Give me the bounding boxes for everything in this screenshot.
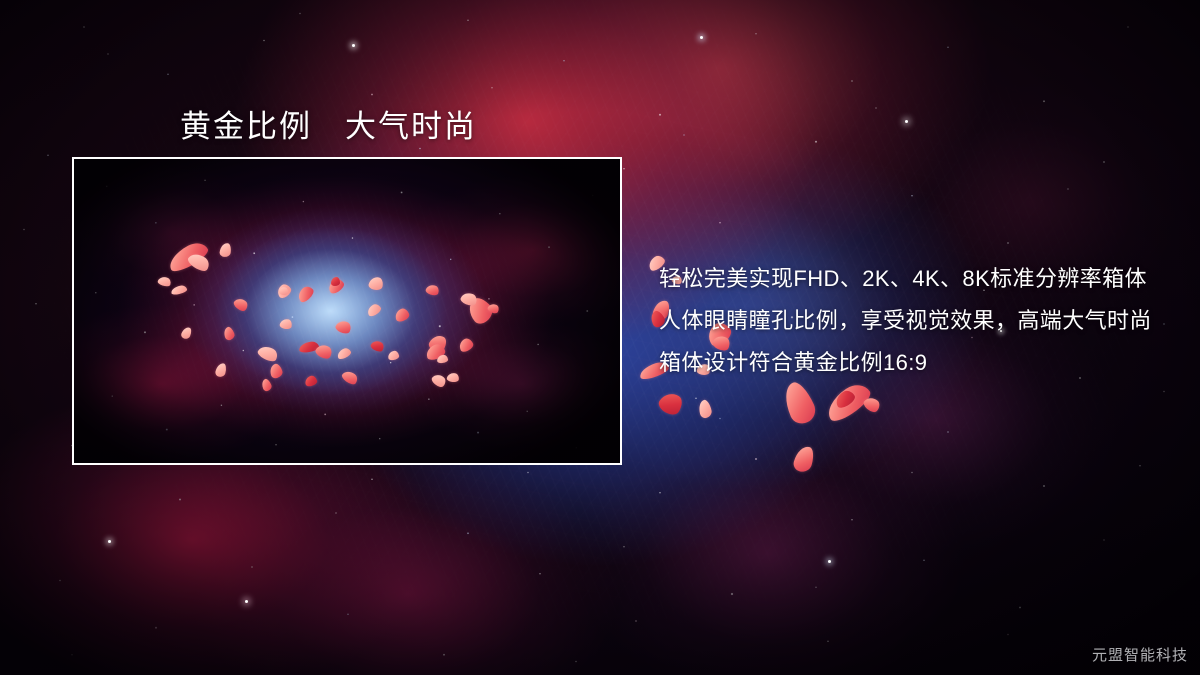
- presentation-slide: 黄金比例 大气时尚: [0, 0, 1200, 675]
- photo-content: [74, 159, 620, 463]
- petal: [821, 379, 874, 426]
- watermark: 元盟智能科技: [1092, 644, 1188, 665]
- bright-star: [245, 600, 248, 603]
- petal: [792, 444, 816, 474]
- petal: [862, 394, 883, 414]
- body-text-block: 轻松完美实现FHD、2K、4K、8K标准分辨率箱体 人体眼睛瞳孔比例，享受视觉效…: [659, 258, 1179, 384]
- bright-star: [700, 36, 703, 39]
- petal: [656, 389, 686, 419]
- photo-vignette: [74, 159, 620, 463]
- framed-photo: [72, 157, 622, 465]
- petal: [697, 399, 713, 419]
- body-text-line-3: 箱体设计符合黄金比例16:9: [659, 342, 1179, 384]
- body-text-line-2: 人体眼睛瞳孔比例，享受视觉效果，高端大气时尚: [659, 300, 1179, 342]
- petal: [779, 379, 820, 428]
- body-text-line-1: 轻松完美实现FHD、2K、4K、8K标准分辨率箱体: [659, 258, 1179, 300]
- bright-star: [108, 540, 111, 543]
- slide-title: 黄金比例 大气时尚: [180, 101, 477, 146]
- bright-star: [905, 120, 908, 123]
- petal: [833, 388, 857, 410]
- bright-star: [352, 44, 355, 47]
- bright-star: [828, 560, 831, 563]
